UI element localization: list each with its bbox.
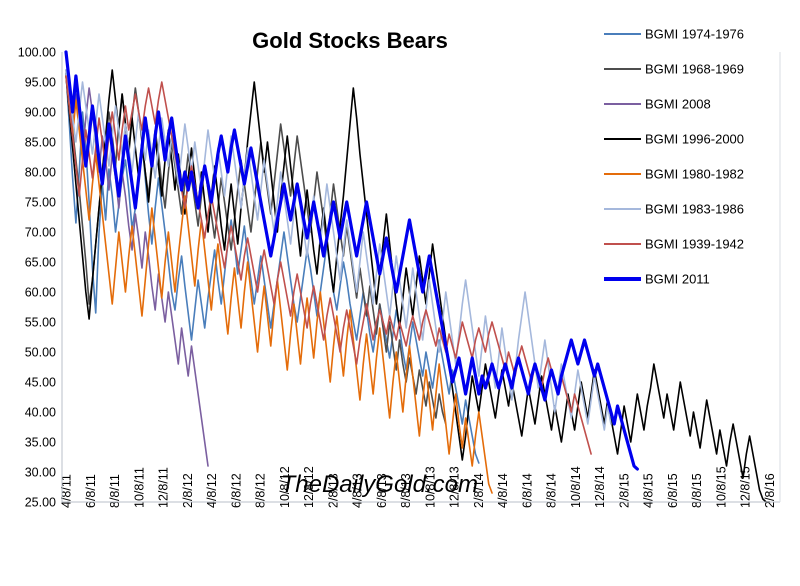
y-axis-tick-label: 90.00 [25,106,56,120]
y-axis-tick-label: 95.00 [25,76,56,90]
x-axis-tick-label: 4/8/15 [642,473,656,508]
x-axis-tick-label: 8/8/11 [108,474,122,508]
chart-container: 100.0095.0090.0085.0080.0075.0070.0065.0… [0,0,800,586]
y-axis-tick-label: 60.00 [25,286,56,300]
legend-item-label[interactable]: BGMI 1968-1969 [645,61,744,76]
y-axis-tick-label: 85.00 [25,136,56,150]
y-axis-tick-label: 100.00 [18,46,56,60]
x-axis-tick-label: 8/8/12 [254,473,268,508]
x-axis-tick-label: 2/8/15 [617,473,631,508]
y-axis-tick-label: 80.00 [25,166,56,180]
y-axis-tick-label: 70.00 [25,226,56,240]
legend-item-label[interactable]: BGMI 1983-1986 [645,201,744,216]
x-axis-tick-label: 4/8/14 [496,473,510,508]
x-axis-tick-label: 8/8/15 [690,473,704,508]
legend-item-label[interactable]: BGMI 1939-1942 [645,236,744,251]
legend-item-label[interactable]: BGMI 1980-1982 [645,166,744,181]
x-axis-tick-label: 6/8/14 [520,473,534,508]
y-axis-tick-label: 25.00 [25,496,56,510]
x-axis-tick-label: 4/8/12 [205,473,219,508]
y-axis-tick-label: 65.00 [25,256,56,270]
x-axis-tick-label: 6/8/12 [229,473,243,508]
legend-item-label[interactable]: BGMI 1996-2000 [645,131,744,146]
watermark-text: TheDailyGold.com [281,471,478,498]
x-axis-tick-label: 6/8/15 [666,473,680,508]
x-axis-tick-label: 6/8/11 [84,474,98,508]
y-axis-tick-label: 30.00 [25,466,56,480]
y-axis-tick-label: 45.00 [25,376,56,390]
x-axis-tick-label: 2/8/16 [763,473,777,508]
y-axis-tick-labels: 100.0095.0090.0085.0080.0075.0070.0065.0… [18,46,56,510]
legend-item-label[interactable]: BGMI 2011 [645,271,710,286]
gold-stocks-bears-chart: 100.0095.0090.0085.0080.0075.0070.0065.0… [0,0,800,586]
y-axis-tick-label: 50.00 [25,346,56,360]
y-axis-tick-label: 40.00 [25,406,56,420]
y-axis-tick-label: 75.00 [25,196,56,210]
page-title: Gold Stocks Bears [252,28,448,53]
legend-item-label[interactable]: BGMI 2008 [645,96,711,111]
y-axis-tick-label: 35.00 [25,436,56,450]
x-axis-tick-label: 2/8/12 [181,473,195,508]
legend-item-label[interactable]: BGMI 1974-1976 [645,26,744,41]
x-axis-tick-label: 8/8/14 [545,473,559,508]
y-axis-tick-label: 55.00 [25,316,56,330]
